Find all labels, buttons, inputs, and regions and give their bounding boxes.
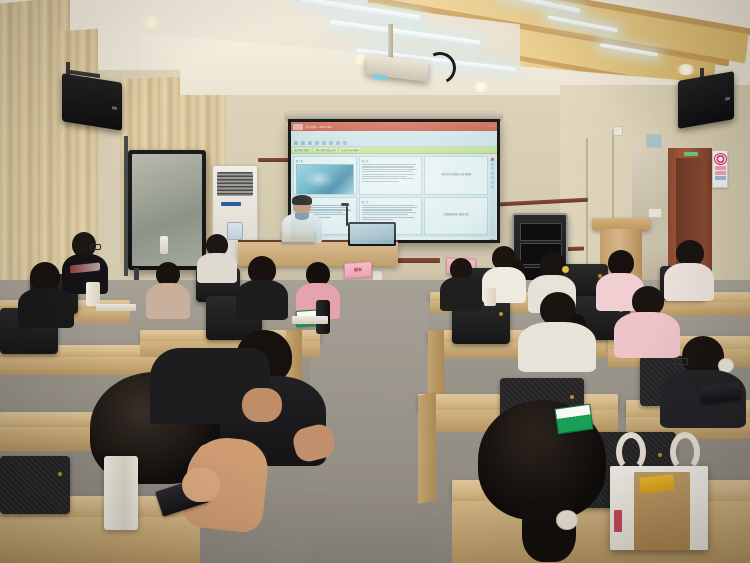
monitor-screen <box>350 224 394 244</box>
wall-speaker-right <box>678 71 734 129</box>
attendee-torso <box>518 322 596 372</box>
name-card: 组长 <box>344 261 372 279</box>
presenter-laptop[interactable] <box>281 229 314 242</box>
text-line <box>362 164 417 165</box>
wall-notice-plate <box>646 134 662 148</box>
ribbon-icon[interactable] <box>301 141 305 145</box>
tote-bag <box>600 432 718 550</box>
downlight-icon <box>472 82 490 92</box>
zoom-level[interactable]: 100% <box>489 239 495 240</box>
attendee <box>440 258 482 308</box>
app-notification-bar: 未启用安全模式 文档已保存到云文档 点击开启自动备份 <box>291 147 497 154</box>
paper-cup <box>484 288 496 306</box>
notice-chip-3[interactable]: 点击开启自动备份 <box>340 148 360 152</box>
page-header: 第 2 页 <box>362 159 420 163</box>
document-stack <box>96 304 136 311</box>
ribbon-icon[interactable] <box>329 141 333 145</box>
text-line <box>362 171 412 172</box>
ac-brand-badge <box>221 202 241 206</box>
attendee <box>660 336 746 424</box>
ribbon-icon[interactable] <box>336 141 340 145</box>
glasses-icon <box>90 244 101 250</box>
notice-chip-2[interactable]: 文档已保存到云文档 <box>314 148 337 152</box>
text-line <box>362 205 416 206</box>
text-line <box>362 219 394 220</box>
rack-slot <box>520 223 562 241</box>
slide-page[interactable]: 第 2 页 <box>359 156 423 195</box>
scroll-button-icon[interactable] <box>491 163 494 166</box>
attendee-torso <box>146 283 190 319</box>
tab-home[interactable] <box>293 124 303 130</box>
slide-callout: 实验结果分析与结论讨论 <box>427 200 485 233</box>
attendee-torso <box>18 288 74 328</box>
scroll-button-icon[interactable] <box>491 181 494 184</box>
sanitizer-bottle <box>160 236 168 254</box>
text-line <box>362 176 407 177</box>
no-smoking-icon <box>714 153 727 165</box>
slide-callout: 本研究的主要目标与技术路线 <box>427 159 485 192</box>
attendee <box>518 292 596 366</box>
downlight-icon <box>140 16 162 28</box>
sign-text-band <box>715 171 726 175</box>
ribbon-icon[interactable] <box>343 141 347 145</box>
attendee <box>150 348 270 428</box>
scroll-button-icon[interactable] <box>491 167 494 170</box>
text-line <box>362 214 408 215</box>
attendee-arm <box>242 388 282 422</box>
attendee-torso <box>236 280 288 320</box>
wall-socket-plate[interactable] <box>648 208 662 218</box>
attendee <box>146 262 190 316</box>
text-line <box>362 217 414 218</box>
downlight-icon <box>676 64 696 75</box>
slide-page[interactable]: 本研究的主要目标与技术路线 <box>424 156 488 195</box>
gooseneck-microphone[interactable] <box>346 206 348 226</box>
app-titlebar: 演示文稿1 - WPS Office — □ ✕ <box>291 122 497 131</box>
tote-logo <box>614 510 622 532</box>
confidence-monitor[interactable] <box>348 222 396 246</box>
document-stack <box>292 316 328 324</box>
attendee-torso <box>440 277 482 311</box>
attendee-torso <box>197 253 237 283</box>
attendee <box>18 262 74 324</box>
notice-chip-1[interactable]: 未启用安全模式 <box>293 148 311 152</box>
fire-safety-sign <box>712 150 728 188</box>
presenter-hair <box>292 195 312 205</box>
microphone-head-icon <box>341 203 349 206</box>
app-ribbon <box>291 131 497 147</box>
lecture-hall-photo: 演示文稿1 - WPS Office — □ ✕ <box>0 0 750 563</box>
ribbon-icon-group[interactable] <box>291 140 350 146</box>
text-line <box>362 169 417 170</box>
text-line <box>362 178 414 179</box>
wall-speaker-left <box>62 73 122 131</box>
paper-cup <box>86 282 100 306</box>
wall-panel-seam <box>586 138 588 278</box>
attendee-hand <box>182 468 220 502</box>
hair-tie-icon <box>556 510 578 530</box>
large-paper-cup <box>104 456 138 530</box>
page-header: 第 5 页 <box>362 200 420 204</box>
ribbon-icon[interactable] <box>294 141 298 145</box>
slide-image <box>296 164 354 195</box>
wall-accent-stripe <box>258 158 292 162</box>
scroll-button-icon[interactable] <box>491 185 494 188</box>
sign-text-band <box>715 176 726 180</box>
text-line <box>362 181 399 182</box>
scroll-button-icon[interactable] <box>491 176 494 179</box>
exit-light-icon <box>684 152 698 156</box>
board-pole <box>124 136 128 276</box>
text-line <box>362 166 414 167</box>
green-card <box>554 404 593 435</box>
attendee <box>236 256 288 316</box>
scroll-marker-icon[interactable] <box>491 158 494 161</box>
document-column: 本研究的主要目标与技术路线 实验结果分析与结论讨论 <box>424 156 488 235</box>
text-line <box>362 212 416 213</box>
page-header: 第 1 页 <box>296 159 354 163</box>
ribbon-icon[interactable] <box>322 141 326 145</box>
text-line <box>362 174 416 175</box>
window-controls[interactable]: — □ ✕ <box>487 125 495 128</box>
glasses-icon <box>674 358 688 365</box>
slide-page[interactable]: 第 1 页 <box>293 156 357 195</box>
document-scrollbar[interactable] <box>490 156 495 235</box>
ribbon-icon[interactable] <box>308 141 312 145</box>
ribbon-icon[interactable] <box>315 141 319 145</box>
scroll-button-icon[interactable] <box>491 172 494 175</box>
text-line <box>362 209 413 210</box>
hair-tie-icon <box>562 266 569 273</box>
projector-mount <box>388 24 393 60</box>
slide-page[interactable]: 实验结果分析与结论讨论 <box>424 197 488 236</box>
ac-grill-icon <box>217 172 253 196</box>
sign-text-band <box>715 166 726 170</box>
text-line <box>362 207 417 208</box>
wall-sensor-icon <box>613 126 623 136</box>
attendee <box>196 234 238 280</box>
app-title: 演示文稿1 - WPS Office <box>305 125 332 129</box>
desk-side-panel <box>418 392 436 504</box>
presenter-collar <box>295 213 309 220</box>
